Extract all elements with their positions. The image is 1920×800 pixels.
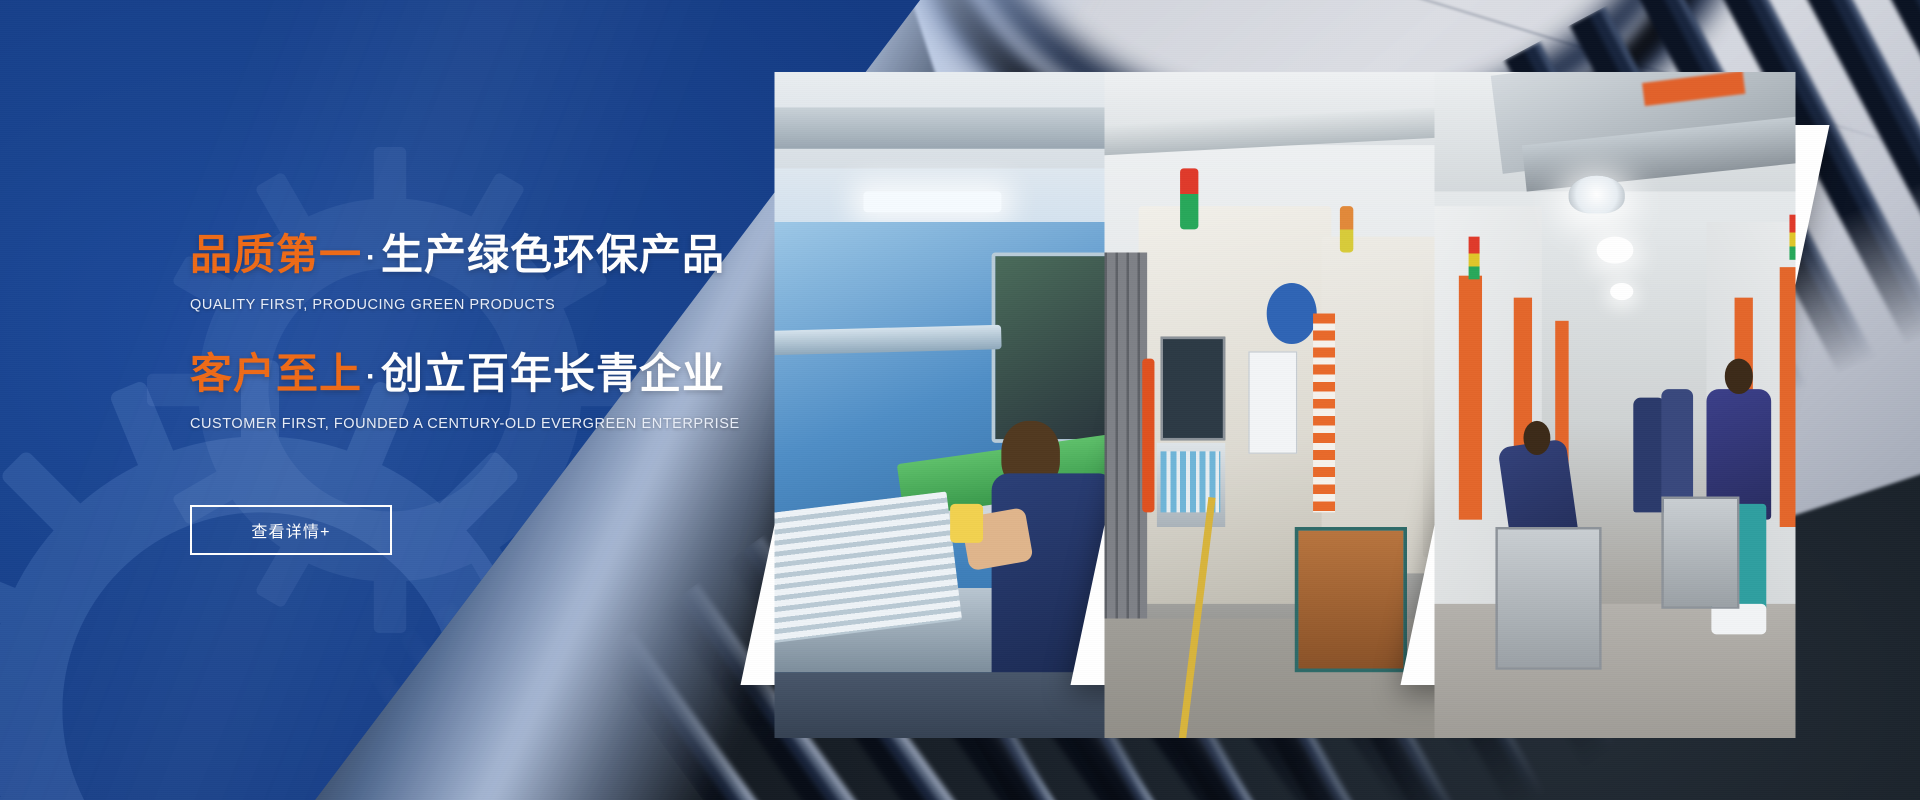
subheadline-line-1: QUALITY FIRST, PRODUCING GREEN PRODUCTS xyxy=(190,297,830,313)
photo-card-factory-aisle-workers[interactable] xyxy=(1400,125,1829,685)
headline-2-separator: · xyxy=(362,360,381,393)
hero-banner: 品质第一·生产绿色环保产品 QUALITY FIRST, PRODUCING G… xyxy=(0,0,1920,800)
headline-2-rest: 创立百年长青企业 xyxy=(381,350,725,397)
headline-1-rest: 生产绿色环保产品 xyxy=(381,231,725,278)
subheadline-line-2: CUSTOMER FIRST, FOUNDED A CENTURY-OLD EV… xyxy=(190,416,830,432)
headline-line-2: 客户至上·创立百年长青企业 xyxy=(190,351,830,397)
headline-2-accent: 客户至上 xyxy=(190,350,362,397)
hero-copy: 品质第一·生产绿色环保产品 QUALITY FIRST, PRODUCING G… xyxy=(190,232,830,432)
headline-line-1: 品质第一·生产绿色环保产品 xyxy=(190,232,830,278)
view-details-button[interactable]: 查看详情+ xyxy=(190,505,392,555)
photo-factory-aisle-workers xyxy=(1434,72,1795,738)
headline-1-accent: 品质第一 xyxy=(190,231,362,278)
headline-1-separator: · xyxy=(362,241,381,274)
